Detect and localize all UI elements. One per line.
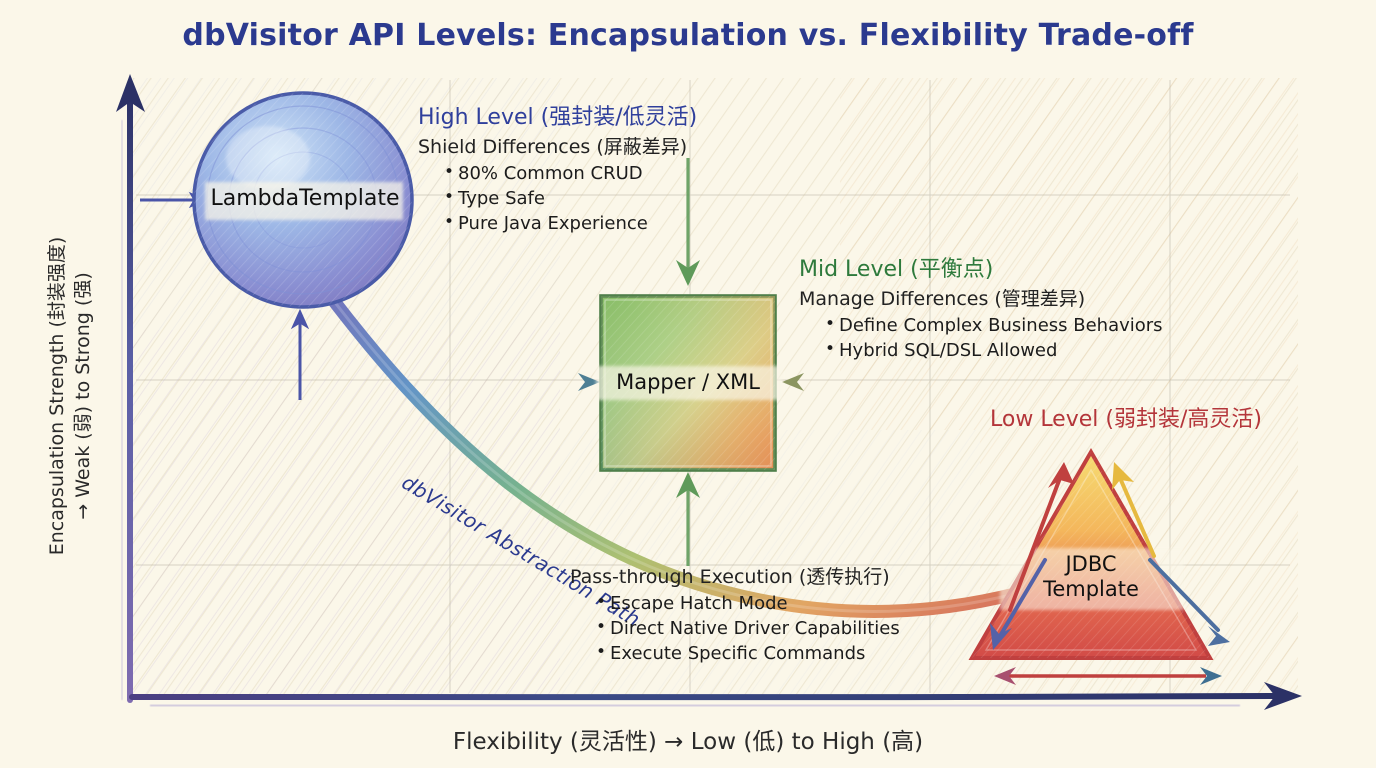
annotation-high-level: High Level (强封装/低灵活) Shield Differences …: [418, 104, 697, 236]
annotation-low-level: Low Level (弱封装/高灵活): [990, 406, 1262, 436]
bullet-item: Pure Java Experience: [444, 211, 697, 236]
page-title: dbVisitor API Levels: Encapsulation vs. …: [0, 18, 1376, 53]
triangle-label: JDBC Template: [1000, 552, 1182, 602]
annotation-high-heading: High Level (强封装/低灵活): [418, 104, 697, 132]
bullet-item: Escape Hatch Mode: [596, 591, 900, 616]
annotation-high-subheading: Shield Differences (屏蔽差异): [418, 134, 697, 160]
bullet-item: Define Complex Business Behaviors: [825, 313, 1163, 338]
annotation-passthrough-subheading: Pass-through Execution (透传执行): [570, 564, 900, 590]
x-axis-label: Flexibility (灵活性) → Low (低) to High (高): [0, 722, 1376, 756]
annotation-passthrough-bullets: Escape Hatch ModeDirect Native Driver Ca…: [570, 591, 900, 666]
bullet-item: Direct Native Driver Capabilities: [596, 616, 900, 641]
annotation-mid-subheading: Manage Differences (管理差异): [799, 286, 1163, 312]
bullet-item: Hybrid SQL/DSL Allowed: [825, 338, 1163, 363]
annotation-high-bullets: 80% Common CRUDType SafePure Java Experi…: [418, 161, 697, 236]
bullet-item: Type Safe: [444, 186, 697, 211]
bullet-item: Execute Specific Commands: [596, 641, 900, 666]
annotation-mid-level: Mid Level (平衡点) Manage Differences (管理差异…: [799, 256, 1163, 363]
square-label: Mapper / XML: [595, 370, 781, 395]
bullet-item: 80% Common CRUD: [444, 161, 697, 186]
y-axis-label: Encapsulation Strength (封装强度) → Weak (弱)…: [44, 166, 96, 626]
diagram-canvas: dbVisitor API Levels: Encapsulation vs. …: [0, 0, 1376, 768]
annotation-passthrough: Pass-through Execution (透传执行) Escape Hat…: [570, 564, 900, 666]
sphere-label: LambdaTemplate: [185, 186, 425, 211]
annotation-mid-heading: Mid Level (平衡点): [799, 256, 1163, 284]
annotation-low-heading: Low Level (弱封装/高灵活): [990, 406, 1262, 434]
annotation-mid-bullets: Define Complex Business BehaviorsHybrid …: [799, 313, 1163, 363]
